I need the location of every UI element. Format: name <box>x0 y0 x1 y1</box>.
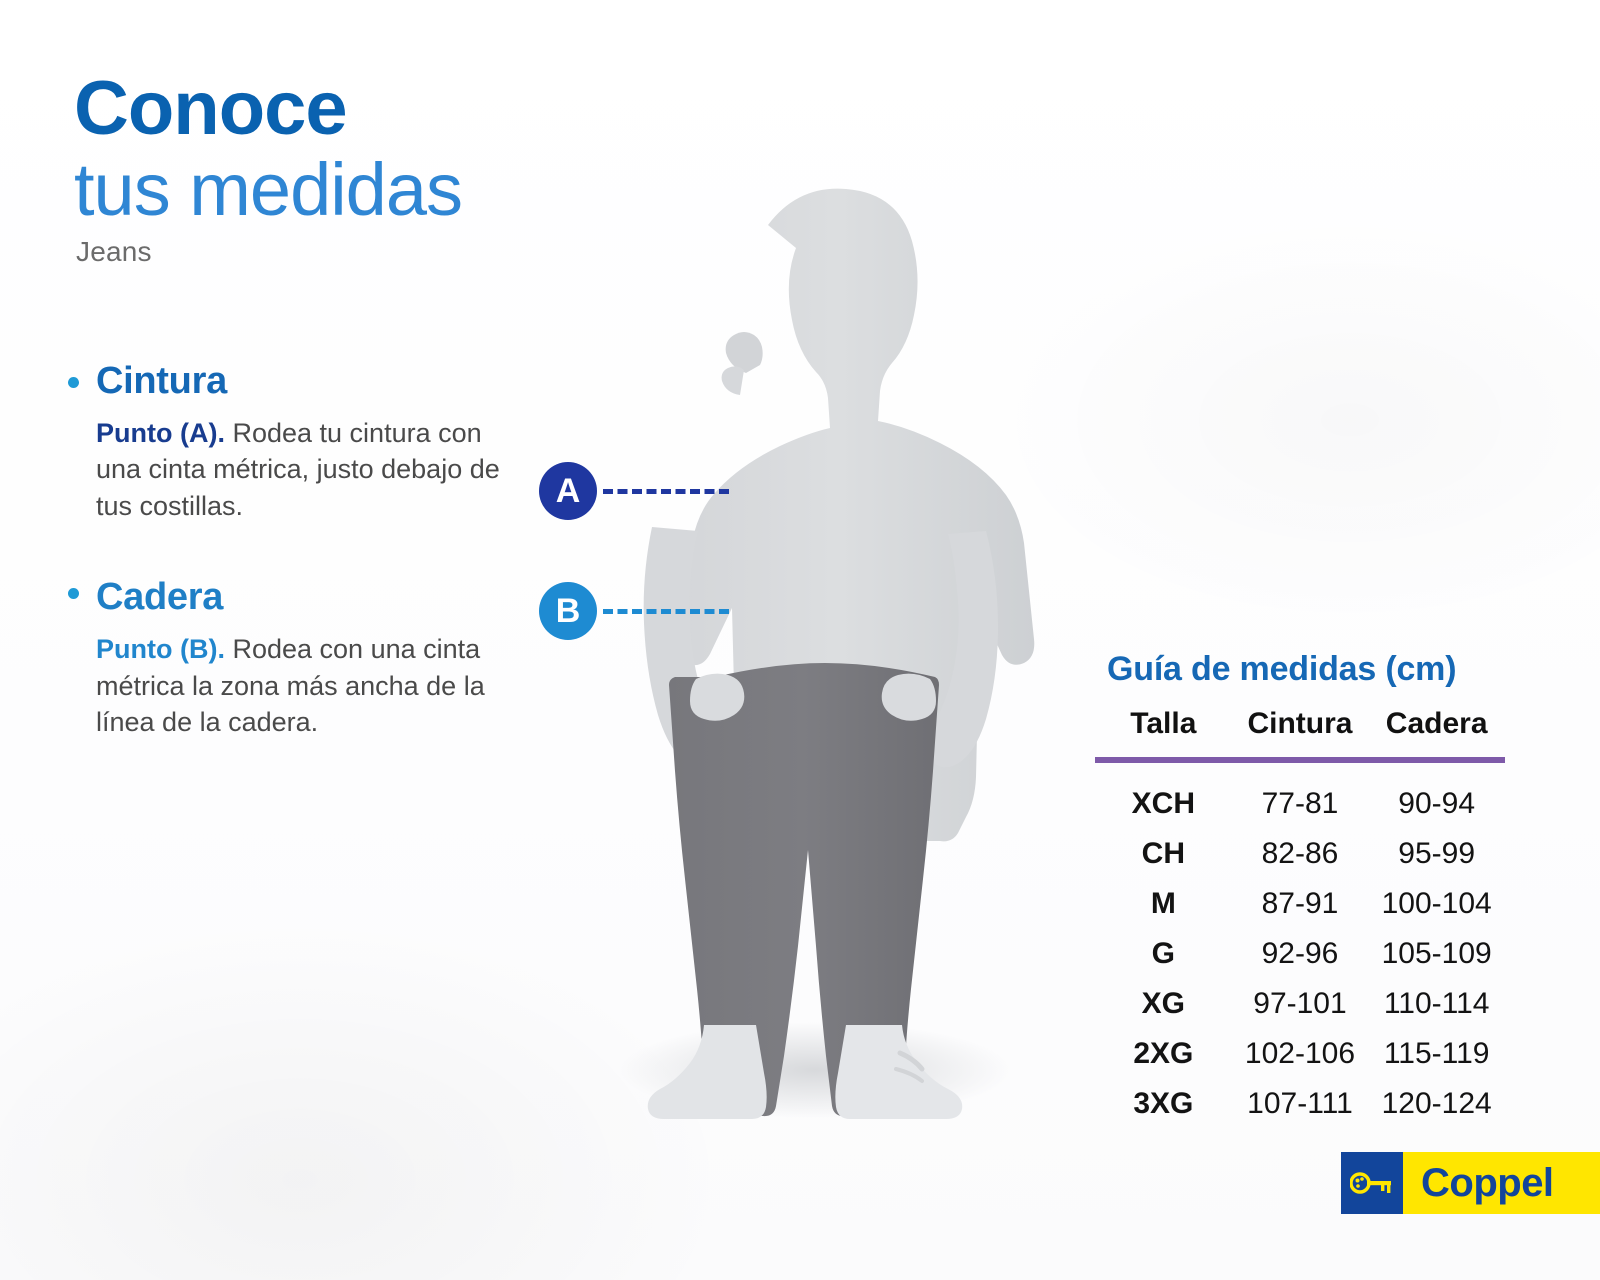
table-row: CH 82-86 95-99 <box>1095 829 1505 879</box>
callout-leader-line-a <box>603 489 729 494</box>
callout-marker-b: B <box>539 582 729 640</box>
cell-talla: XCH <box>1095 771 1232 829</box>
cell-cadera: 120-124 <box>1368 1079 1505 1129</box>
cell-talla: 2XG <box>1095 1029 1232 1079</box>
cell-talla: 3XG <box>1095 1079 1232 1129</box>
point-label-b: Punto (B). <box>96 634 225 664</box>
cell-cintura: 107-111 <box>1232 1079 1369 1129</box>
coppel-logo: Coppel <box>1341 1152 1600 1214</box>
cell-cintura: 97-101 <box>1232 979 1369 1029</box>
table-row: M 87-91 100-104 <box>1095 879 1505 929</box>
measurement-instructions: Cintura Punto (A). Rodea tu cintura con … <box>60 360 580 741</box>
section-heading-cadera: Cadera <box>96 576 580 619</box>
cell-cintura: 102-106 <box>1232 1029 1369 1079</box>
cell-cadera: 95-99 <box>1368 829 1505 879</box>
table-row: XCH 77-81 90-94 <box>1095 771 1505 829</box>
column-header-cadera: Cadera <box>1368 707 1505 749</box>
callout-leader-line-b <box>603 609 729 614</box>
cell-cintura: 82-86 <box>1232 829 1369 879</box>
cell-talla: XG <box>1095 979 1232 1029</box>
point-label-a: Punto (A). <box>96 418 225 448</box>
table-header-row: Talla Cintura Cadera <box>1095 707 1505 749</box>
cell-cadera: 90-94 <box>1368 771 1505 829</box>
callout-badge-a-label: A <box>539 462 597 520</box>
cell-cadera: 100-104 <box>1368 879 1505 929</box>
table-header-divider <box>1095 749 1505 771</box>
cell-talla: CH <box>1095 829 1232 879</box>
cell-talla: G <box>1095 929 1232 979</box>
section-body-cadera: Punto (B). Rodea con una cinta métrica l… <box>96 631 526 740</box>
table-body: XCH 77-81 90-94 CH 82-86 95-99 M 87-91 1… <box>1095 771 1505 1129</box>
cell-cintura: 87-91 <box>1232 879 1369 929</box>
cell-talla: M <box>1095 879 1232 929</box>
section-body-cintura: Punto (A). Rodea tu cintura con una cint… <box>96 415 526 524</box>
bullet-dot-icon <box>68 588 79 599</box>
column-header-cintura: Cintura <box>1232 707 1369 749</box>
cell-cadera: 110-114 <box>1368 979 1505 1029</box>
size-guide-table: Talla Cintura Cadera XCH 77-81 90-94 CH … <box>1095 707 1505 1129</box>
table-row: XG 97-101 110-114 <box>1095 979 1505 1029</box>
column-header-talla: Talla <box>1095 707 1232 749</box>
size-guide-table-block: Guía de medidas (cm) Talla Cintura Cader… <box>1095 650 1505 1129</box>
callout-badge-b-label: B <box>539 582 597 640</box>
cell-cadera: 105-109 <box>1368 929 1505 979</box>
instruction-section-cadera: Cadera Punto (B). Rodea con una cinta mé… <box>60 576 580 740</box>
coppel-wordmark: Coppel <box>1403 1152 1600 1214</box>
table-row: G 92-96 105-109 <box>1095 929 1505 979</box>
cell-cintura: 92-96 <box>1232 929 1369 979</box>
bullet-dot-icon <box>68 377 79 388</box>
section-heading-cintura: Cintura <box>96 360 580 403</box>
instruction-section-cintura: Cintura Punto (A). Rodea tu cintura con … <box>60 360 580 524</box>
table-row: 3XG 107-111 120-124 <box>1095 1079 1505 1129</box>
size-guide-title: Guía de medidas (cm) <box>1107 650 1505 689</box>
key-icon <box>1341 1152 1403 1214</box>
cell-cintura: 77-81 <box>1232 771 1369 829</box>
table-row: 2XG 102-106 115-119 <box>1095 1029 1505 1079</box>
cell-cadera: 115-119 <box>1368 1029 1505 1079</box>
callout-marker-a: A <box>539 462 729 520</box>
